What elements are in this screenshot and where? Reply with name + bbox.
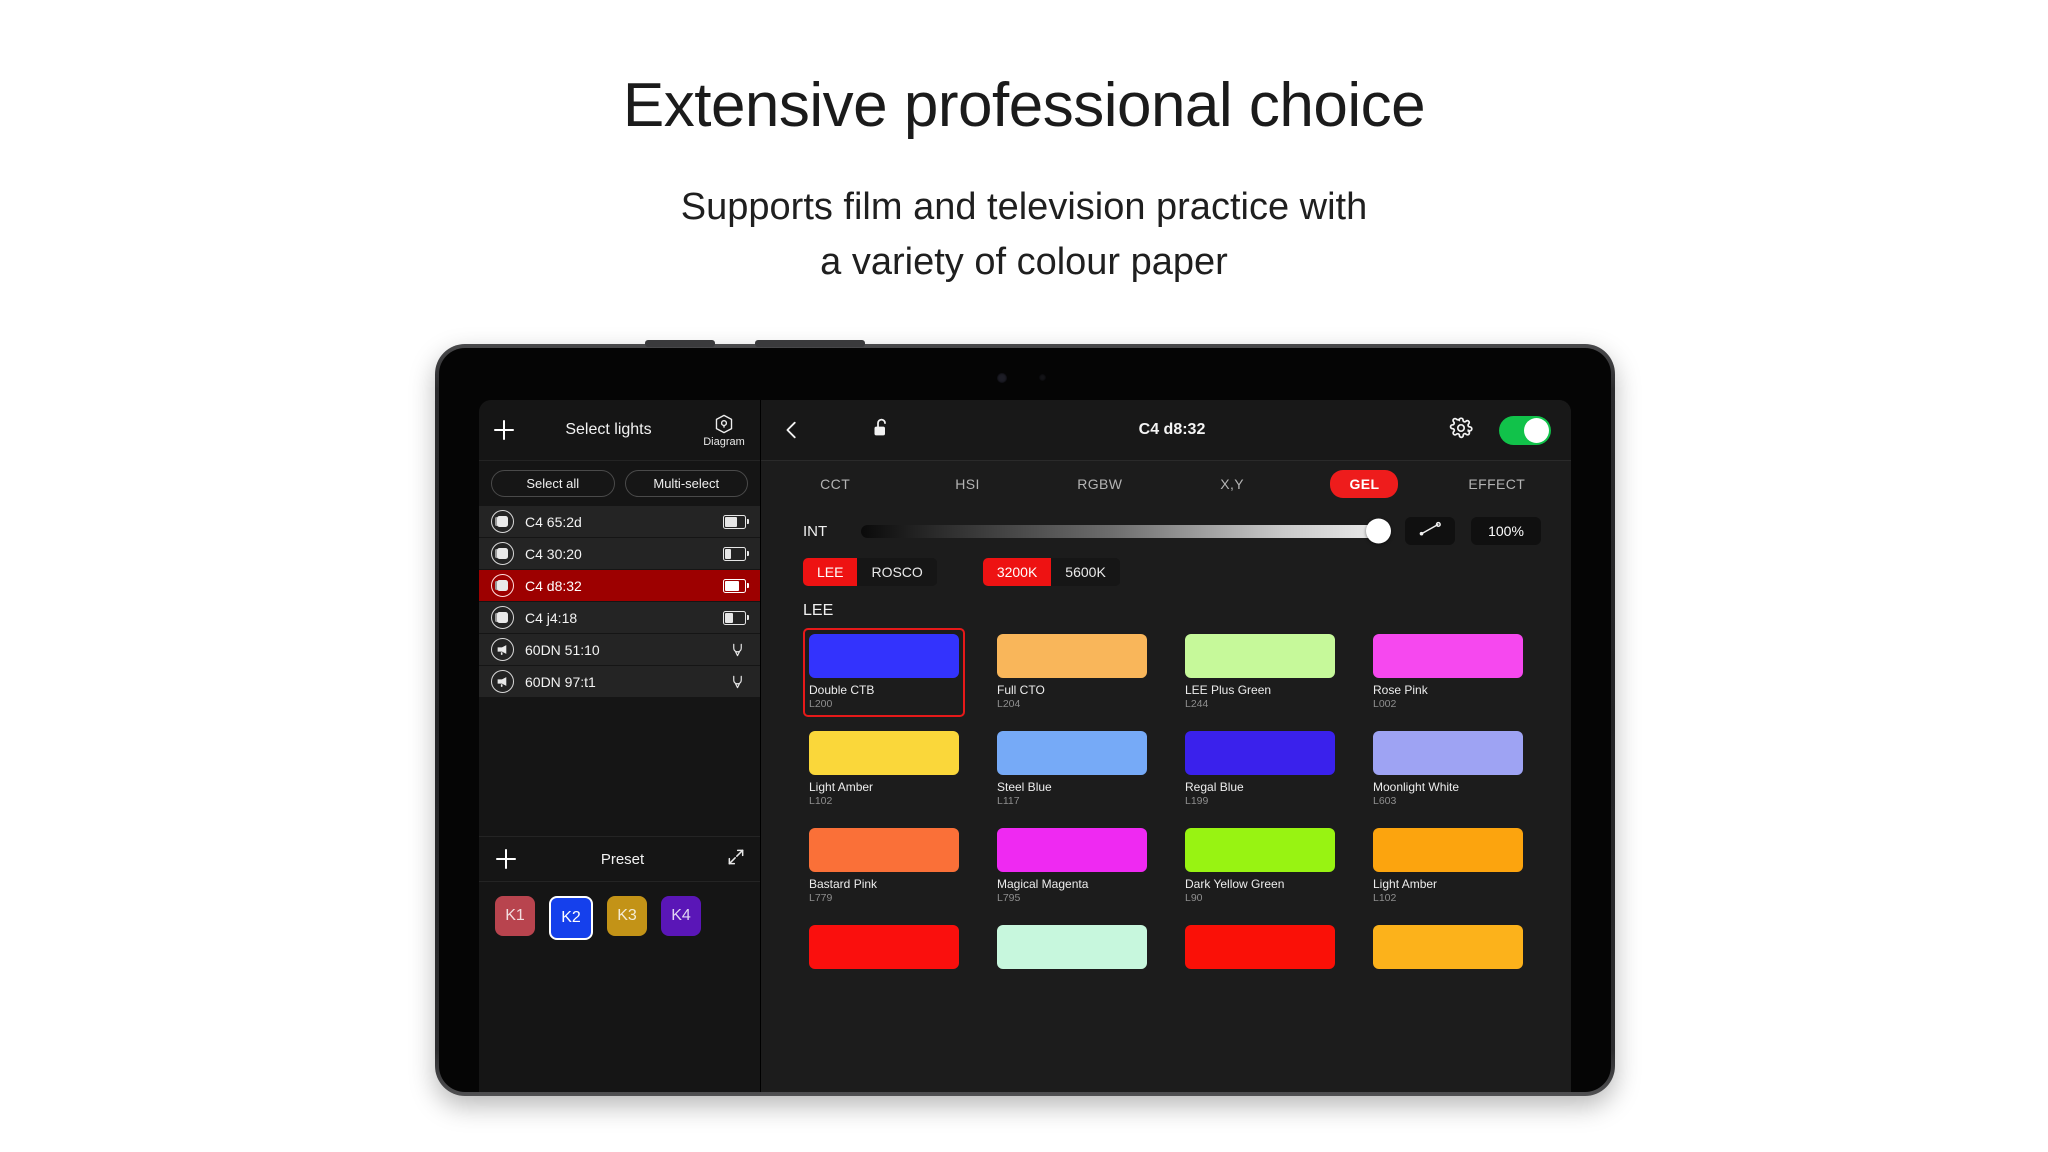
gel-color-chip bbox=[997, 731, 1147, 775]
battery-icon bbox=[723, 547, 746, 561]
light-name: C4 65:2d bbox=[525, 514, 712, 530]
linear-curve-icon bbox=[1417, 520, 1443, 543]
camera-lens-icon bbox=[997, 373, 1007, 383]
light-name: 60DN 51:10 bbox=[525, 642, 718, 658]
expand-icon[interactable] bbox=[726, 847, 746, 872]
gel-code: L779 bbox=[809, 892, 959, 905]
gel-color-chip bbox=[1185, 828, 1335, 872]
gel-swatch[interactable] bbox=[1179, 919, 1341, 980]
light-name: 60DN 97:t1 bbox=[525, 674, 718, 690]
power-toggle-knob bbox=[1524, 418, 1549, 443]
gel-swatch[interactable]: Steel BlueL117 bbox=[991, 725, 1153, 814]
plug-icon bbox=[729, 674, 746, 690]
brand-option-lee[interactable]: LEE bbox=[803, 558, 857, 586]
select-all-button[interactable]: Select all bbox=[491, 470, 615, 497]
gel-swatch[interactable]: Dark Yellow GreenL90 bbox=[1179, 822, 1341, 911]
spotlight-icon bbox=[491, 670, 514, 693]
gel-name: Full CTO bbox=[997, 683, 1147, 698]
gel-color-chip bbox=[1373, 925, 1523, 969]
light-panel-icon bbox=[491, 606, 514, 629]
diagram-button[interactable]: Diagram bbox=[700, 413, 748, 448]
battery-fill bbox=[725, 581, 739, 591]
gel-color-chip bbox=[1373, 634, 1523, 678]
gel-color-chip bbox=[997, 925, 1147, 969]
sidebar-title: Select lights bbox=[517, 421, 700, 439]
gel-color-chip bbox=[1185, 731, 1335, 775]
panel-glyph bbox=[497, 516, 508, 527]
volume-button[interactable] bbox=[645, 340, 715, 347]
tab-label: RGBW bbox=[1077, 476, 1122, 492]
gel-swatch[interactable]: Full CTOL204 bbox=[991, 628, 1153, 717]
gel-swatch[interactable]: Rose PinkL002 bbox=[1367, 628, 1529, 717]
kelvin-option-3200k[interactable]: 3200K bbox=[983, 558, 1051, 586]
page-headline: Extensive professional choice bbox=[0, 70, 2048, 141]
gel-swatch[interactable]: LEE Plus GreenL244 bbox=[1179, 628, 1341, 717]
light-row[interactable]: C4 30:20 bbox=[479, 538, 760, 570]
gel-swatch[interactable]: Bastard PinkL779 bbox=[803, 822, 965, 911]
light-row[interactable]: C4 j4:18 bbox=[479, 602, 760, 634]
light-name: C4 30:20 bbox=[525, 546, 712, 562]
light-list: C4 65:2dC4 30:20C4 d8:32C4 j4:1860DN 51:… bbox=[479, 506, 760, 698]
battery-fill bbox=[725, 517, 737, 527]
unlock-icon bbox=[871, 417, 892, 443]
gel-swatch[interactable] bbox=[803, 919, 965, 980]
toggle-row: LEEROSCO 3200K5600K bbox=[761, 549, 1571, 590]
app-screen: Select lights Diagram Select a bbox=[479, 400, 1571, 1092]
gel-name: Bastard Pink bbox=[809, 877, 959, 892]
gel-name: Magical Magenta bbox=[997, 877, 1147, 892]
gel-swatch[interactable]: Moonlight WhiteL603 bbox=[1367, 725, 1529, 814]
preset-key-button[interactable]: K2 bbox=[549, 896, 593, 940]
battery-fill bbox=[725, 549, 731, 559]
gel-name: Regal Blue bbox=[1185, 780, 1335, 795]
preset-title: Preset bbox=[519, 851, 726, 868]
brand-toggle: LEEROSCO bbox=[803, 558, 937, 586]
gel-color-chip bbox=[997, 634, 1147, 678]
preset-key-list: K1K2K3K4 bbox=[479, 882, 760, 954]
gel-swatch[interactable]: Light AmberL102 bbox=[1367, 822, 1529, 911]
intensity-value[interactable]: 100% bbox=[1471, 517, 1541, 545]
multi-select-button[interactable]: Multi-select bbox=[625, 470, 749, 497]
intensity-slider[interactable] bbox=[861, 525, 1389, 538]
gel-section-label: LEE bbox=[761, 590, 1571, 628]
battery-fill bbox=[725, 613, 733, 623]
gel-name: Light Amber bbox=[809, 780, 959, 795]
gel-color-chip bbox=[809, 634, 959, 678]
preset-key-button[interactable]: K4 bbox=[661, 896, 701, 936]
intensity-row: INT 100% bbox=[761, 507, 1571, 549]
tablet-bezel: Select lights Diagram Select a bbox=[439, 348, 1611, 1092]
gel-color-chip bbox=[1185, 925, 1335, 969]
light-row[interactable]: 60DN 51:10 bbox=[479, 634, 760, 666]
gel-code: L002 bbox=[1373, 698, 1523, 711]
front-camera bbox=[997, 373, 1053, 383]
spotlight-icon bbox=[491, 638, 514, 661]
battery-icon bbox=[723, 515, 746, 529]
gel-color-chip bbox=[809, 731, 959, 775]
gel-code: L244 bbox=[1185, 698, 1335, 711]
brand-option-rosco[interactable]: ROSCO bbox=[857, 558, 936, 586]
light-panel-icon bbox=[491, 574, 514, 597]
gel-color-chip bbox=[809, 925, 959, 969]
main-panel: C4 d8:32 CCTHSIRGBWX,YGELEFFECT bbox=[761, 400, 1571, 1092]
light-panel-icon bbox=[491, 510, 514, 533]
tab-cct[interactable]: CCT bbox=[769, 476, 901, 492]
gel-swatch[interactable]: Double CTBL200 bbox=[803, 628, 965, 717]
kelvin-option-5600k[interactable]: 5600K bbox=[1051, 558, 1119, 586]
gel-code: L200 bbox=[809, 698, 959, 711]
tablet-device: Select lights Diagram Select a bbox=[435, 344, 1615, 1096]
tab-x-y[interactable]: X,Y bbox=[1166, 476, 1298, 492]
proximity-sensor-icon bbox=[1039, 374, 1046, 381]
main-title: C4 d8:32 bbox=[941, 421, 1403, 439]
tab-label: HSI bbox=[955, 476, 980, 492]
back-button[interactable] bbox=[781, 419, 821, 441]
gel-name: LEE Plus Green bbox=[1185, 683, 1335, 698]
gel-code: L603 bbox=[1373, 795, 1523, 808]
light-row[interactable]: 60DN 97:t1 bbox=[479, 666, 760, 698]
add-light-icon[interactable] bbox=[491, 417, 517, 443]
light-panel-icon bbox=[491, 542, 514, 565]
settings-button[interactable] bbox=[1403, 416, 1473, 445]
plug-icon bbox=[729, 642, 746, 658]
tab-label: X,Y bbox=[1220, 476, 1244, 492]
add-preset-icon[interactable] bbox=[493, 846, 519, 872]
light-row[interactable]: C4 65:2d bbox=[479, 506, 760, 538]
preset-empty-area bbox=[479, 954, 760, 1092]
sidebar: Select lights Diagram Select a bbox=[479, 400, 761, 1092]
gel-swatch[interactable]: Regal BlueL199 bbox=[1179, 725, 1341, 814]
gel-name: Moonlight White bbox=[1373, 780, 1523, 795]
light-name: C4 j4:18 bbox=[525, 610, 712, 626]
panel-glyph bbox=[497, 548, 508, 559]
gear-icon bbox=[1449, 416, 1473, 445]
intensity-slider-thumb[interactable] bbox=[1366, 519, 1391, 544]
gel-name: Double CTB bbox=[809, 683, 959, 698]
gel-code: L199 bbox=[1185, 795, 1335, 808]
light-row[interactable]: C4 d8:32 bbox=[479, 570, 760, 602]
subheadline-line-2: a variety of colour paper bbox=[0, 235, 2048, 290]
diagram-label: Diagram bbox=[703, 436, 745, 448]
panel-glyph bbox=[497, 580, 508, 591]
light-name: C4 d8:32 bbox=[525, 578, 712, 594]
sidebar-header: Select lights Diagram bbox=[479, 400, 760, 461]
tab-label: EFFECT bbox=[1468, 476, 1525, 492]
sidebar-spacer bbox=[479, 698, 760, 836]
gel-color-chip bbox=[997, 828, 1147, 872]
gel-color-chip bbox=[1373, 731, 1523, 775]
page-subheadline: Supports film and television practice wi… bbox=[0, 180, 2048, 290]
tab-gel[interactable]: GEL bbox=[1298, 470, 1430, 498]
gel-code: L117 bbox=[997, 795, 1147, 808]
gel-code: L204 bbox=[997, 698, 1147, 711]
tab-label: GEL bbox=[1330, 470, 1398, 498]
preset-header: Preset bbox=[479, 836, 760, 882]
gel-name: Steel Blue bbox=[997, 780, 1147, 795]
gel-name: Light Amber bbox=[1373, 877, 1523, 892]
gel-color-chip bbox=[1185, 634, 1335, 678]
tab-label: CCT bbox=[820, 476, 850, 492]
gel-color-chip bbox=[1373, 828, 1523, 872]
gel-swatch[interactable] bbox=[991, 919, 1153, 980]
tab-rgbw[interactable]: RGBW bbox=[1034, 476, 1166, 492]
main-header: C4 d8:32 bbox=[761, 400, 1571, 461]
power-toggle[interactable] bbox=[1499, 416, 1551, 445]
selection-controls: Select all Multi-select bbox=[479, 461, 760, 506]
gel-swatch[interactable]: Light AmberL102 bbox=[803, 725, 965, 814]
gel-color-chip bbox=[809, 828, 959, 872]
tab-effect[interactable]: EFFECT bbox=[1431, 476, 1563, 492]
gel-grid: Double CTBL200Full CTOL204LEE Plus Green… bbox=[803, 628, 1529, 980]
gel-code: L90 bbox=[1185, 892, 1335, 905]
gel-code: L102 bbox=[1373, 892, 1523, 905]
lock-button[interactable] bbox=[821, 417, 941, 443]
diagram-cube-icon bbox=[713, 413, 735, 435]
dimming-curve-button[interactable] bbox=[1405, 517, 1455, 545]
intensity-label: INT bbox=[803, 523, 845, 540]
panel-glyph bbox=[497, 612, 508, 623]
gel-swatch[interactable]: Magical MagentaL795 bbox=[991, 822, 1153, 911]
gel-code: L795 bbox=[997, 892, 1147, 905]
gel-name: Rose Pink bbox=[1373, 683, 1523, 698]
gel-swatch[interactable] bbox=[1367, 919, 1529, 980]
gel-code: L102 bbox=[809, 795, 959, 808]
gel-grid-scroll[interactable]: Double CTBL200Full CTOL204LEE Plus Green… bbox=[761, 628, 1571, 1092]
kelvin-toggle: 3200K5600K bbox=[983, 558, 1120, 586]
battery-icon bbox=[723, 611, 746, 625]
mode-tabs: CCTHSIRGBWX,YGELEFFECT bbox=[761, 461, 1571, 507]
tab-hsi[interactable]: HSI bbox=[901, 476, 1033, 492]
preset-key-button[interactable]: K1 bbox=[495, 896, 535, 936]
battery-icon bbox=[723, 579, 746, 593]
power-button[interactable] bbox=[755, 340, 865, 347]
subheadline-line-1: Supports film and television practice wi… bbox=[0, 180, 2048, 235]
gel-name: Dark Yellow Green bbox=[1185, 877, 1335, 892]
preset-key-button[interactable]: K3 bbox=[607, 896, 647, 936]
